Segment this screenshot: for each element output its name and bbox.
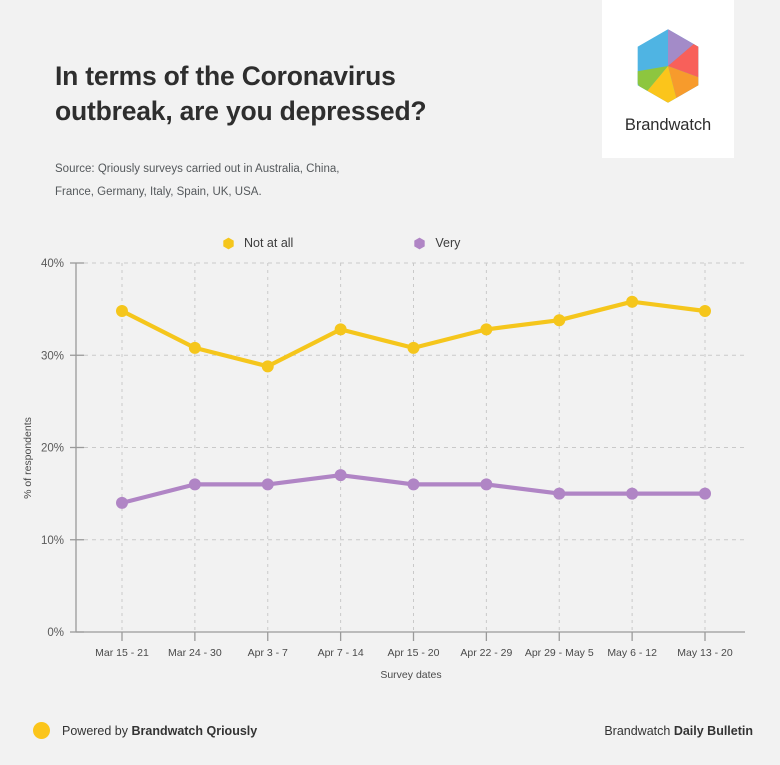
x-axis-title: Survey dates xyxy=(380,669,441,681)
chart-canvas: 0%10%20%30%40% Mar 15 - 21Mar 24 - 30Apr… xyxy=(0,0,780,700)
y-axis-tick-label: 40% xyxy=(41,258,64,270)
page-footer: Powered by Brandwatch Qriously Brandwatc… xyxy=(0,707,780,765)
footer-powered-prefix: Powered by xyxy=(62,724,131,738)
y-axis-tick-label: 20% xyxy=(41,443,64,455)
y-axis-ticks: 0%10%20%30%40% xyxy=(41,258,84,639)
data-point[interactable] xyxy=(699,305,711,317)
x-axis-tick-label: Apr 22 - 29 xyxy=(460,647,512,659)
y-axis-title: % of respondents xyxy=(22,417,34,499)
x-axis-tick-label: Mar 24 - 30 xyxy=(168,647,222,659)
data-point[interactable] xyxy=(408,342,420,354)
x-axis-ticks: Mar 15 - 21Mar 24 - 30Apr 3 - 7Apr 7 - 1… xyxy=(95,632,733,659)
footer-powered-by: Powered by Brandwatch Qriously xyxy=(33,722,257,739)
data-point[interactable] xyxy=(553,314,565,326)
data-point[interactable] xyxy=(480,323,492,335)
x-axis-tick-label: May 13 - 20 xyxy=(677,647,733,659)
footer-daily-bulletin: Brandwatch Daily Bulletin xyxy=(604,724,753,738)
data-point[interactable] xyxy=(189,342,201,354)
line-chart: 0%10%20%30%40% Mar 15 - 21Mar 24 - 30Apr… xyxy=(0,0,780,700)
data-point[interactable] xyxy=(626,296,638,308)
footer-right-prefix: Brandwatch xyxy=(604,724,673,738)
y-axis-tick-label: 10% xyxy=(41,535,64,547)
data-point[interactable] xyxy=(626,488,638,500)
y-axis-tick-label: 0% xyxy=(47,627,64,639)
data-point[interactable] xyxy=(408,478,420,490)
x-axis-tick-label: Mar 15 - 21 xyxy=(95,647,149,659)
data-point[interactable] xyxy=(553,488,565,500)
data-point[interactable] xyxy=(262,360,274,372)
data-point[interactable] xyxy=(189,478,201,490)
data-point[interactable] xyxy=(699,488,711,500)
footer-right-brand: Daily Bulletin xyxy=(674,724,753,738)
x-axis-tick-label: Apr 15 - 20 xyxy=(388,647,440,659)
data-point[interactable] xyxy=(335,323,347,335)
horizontal-gridlines xyxy=(84,263,745,632)
footer-powered-brand: Brandwatch Qriously xyxy=(131,724,257,738)
brandwatch-dot-icon xyxy=(33,722,50,739)
data-point[interactable] xyxy=(116,497,128,509)
x-axis-tick-label: May 6 - 12 xyxy=(607,647,657,659)
x-axis-tick-label: Apr 7 - 14 xyxy=(318,647,364,659)
data-point[interactable] xyxy=(116,305,128,317)
x-axis-tick-label: Apr 29 - May 5 xyxy=(525,647,594,659)
x-axis-tick-label: Apr 3 - 7 xyxy=(248,647,288,659)
data-point[interactable] xyxy=(262,478,274,490)
data-point[interactable] xyxy=(480,478,492,490)
data-point[interactable] xyxy=(335,469,347,481)
y-axis-tick-label: 30% xyxy=(41,350,64,362)
vertical-gridlines xyxy=(122,263,705,632)
footer-powered-by-text: Powered by Brandwatch Qriously xyxy=(62,724,257,738)
